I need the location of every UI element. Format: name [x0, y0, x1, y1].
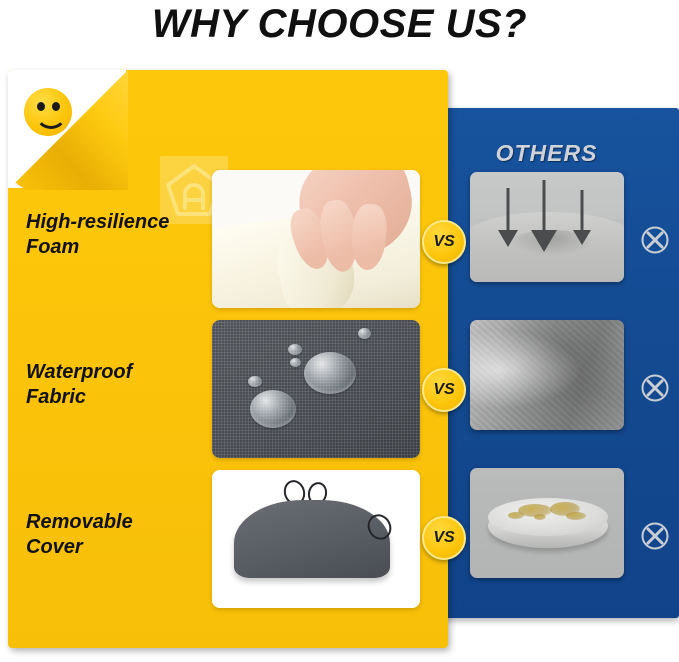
feature-label-3: Removable Cover — [26, 510, 211, 560]
smiley-face-icon — [24, 88, 72, 136]
others-image-card-1 — [470, 172, 624, 282]
arrows-pressing-into-sagging-foam-photo — [470, 172, 624, 282]
cushion-top — [488, 498, 608, 536]
ours-image-card-1 — [212, 170, 420, 308]
page-title: WHY CHOOSE US? — [0, 2, 679, 47]
stain-mark — [508, 512, 524, 519]
water-droplet — [290, 358, 301, 367]
feature-label-2: Waterproof Fabric — [26, 360, 211, 410]
gray-seat-cushion-with-ties-photo — [212, 470, 420, 608]
ours-image-card-2 — [212, 320, 420, 458]
infographic-canvas: WHY CHOOSE US? OTHERS — [0, 0, 679, 662]
ours-panel: OURS High-resilience Foam Waterproof Fab… — [8, 70, 448, 648]
water-droplet — [248, 376, 262, 387]
water-droplet — [358, 328, 371, 339]
vs-badge-2: VS — [422, 368, 466, 412]
smiley-eye-right — [52, 102, 60, 111]
water-droplet — [288, 344, 302, 355]
smiley-mouth — [35, 106, 67, 129]
circle-x-icon — [640, 373, 670, 403]
vs-badge-3: VS — [422, 516, 466, 560]
feature-label-1: High-resilience Foam — [26, 210, 211, 260]
stain-mark — [534, 514, 546, 520]
others-image-card-2 — [470, 320, 624, 430]
circle-x-icon — [640, 225, 670, 255]
hand-squeezing-foam-photo — [212, 170, 420, 308]
cushion-body — [234, 500, 390, 578]
others-image-card-3 — [470, 468, 624, 578]
water-droplet — [250, 390, 296, 428]
smiley-eye-left — [37, 102, 45, 111]
water-droplet — [304, 352, 356, 394]
soaked-wet-fabric-photo — [470, 320, 624, 430]
ours-image-card-3 — [212, 470, 420, 608]
vs-badge-1: VS — [422, 220, 466, 264]
stain-mark — [566, 512, 586, 520]
circle-x-icon — [640, 521, 670, 551]
others-column-label: OTHERS — [444, 140, 649, 167]
stained-round-cushion-photo — [470, 468, 624, 578]
water-droplets-beading-on-fabric-photo — [212, 320, 420, 458]
